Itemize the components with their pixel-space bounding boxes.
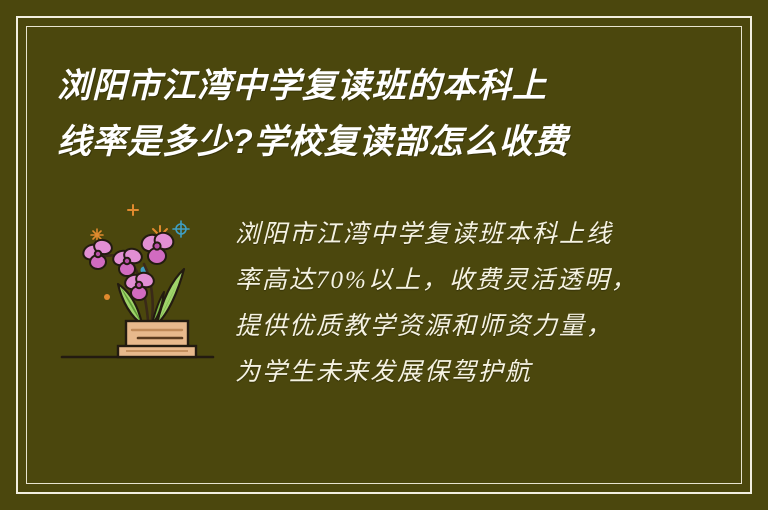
poster-canvas: 浏阳市江湾中学复读班的本科上 线率是多少?学校复读部怎么收费: [0, 0, 768, 510]
body-line-3: 提供优质教学资源和师资力量，: [235, 304, 645, 350]
title-line-2: 线率是多少?学校复读部怎么收费: [57, 114, 657, 170]
page-title: 浏阳市江湾中学复读班的本科上 线率是多少?学校复读部怎么收费: [57, 58, 657, 170]
blue-star-sparkle: [173, 221, 189, 237]
body-line-2: 率高达70%以上，收费灵活透明，: [235, 258, 645, 304]
orange-cross-sparkle: [128, 205, 138, 215]
content-row: 浏阳市江湾中学复读班本科上线 率高达70%以上，收费灵活透明， 提供优质教学资源…: [0, 196, 768, 396]
flower-pot: [118, 321, 196, 357]
body-paragraph: 浏阳市江湾中学复读班本科上线 率高达70%以上，收费灵活透明， 提供优质教学资源…: [235, 212, 645, 396]
orange-dot-sparkle: [104, 294, 110, 300]
potted-orchid-plant-illustration: [60, 196, 215, 376]
body-line-1: 浏阳市江湾中学复读班本科上线: [235, 212, 645, 258]
orchid-flower-left: [81, 238, 114, 270]
title-line-1: 浏阳市江湾中学复读班的本科上: [57, 58, 657, 114]
body-line-4: 为学生未来发展保驾护航: [235, 350, 645, 396]
orchid-flower-top: [139, 230, 175, 264]
orchid-flower-middle: [111, 247, 144, 276]
orchid-flowers: [81, 230, 176, 300]
